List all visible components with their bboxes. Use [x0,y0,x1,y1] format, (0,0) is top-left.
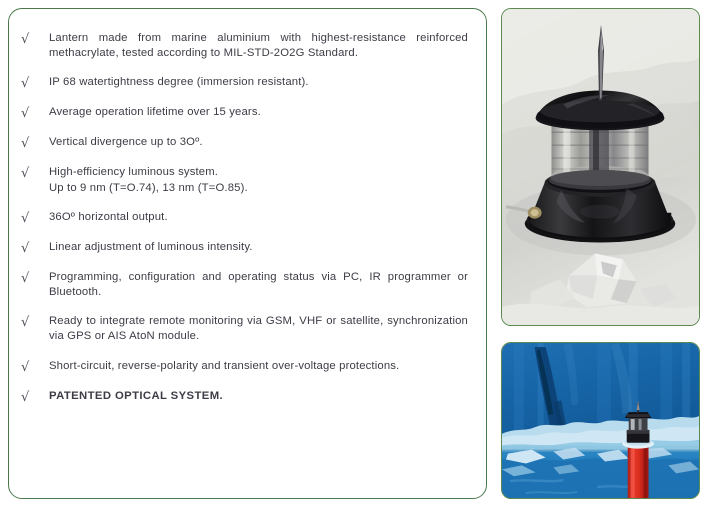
check-icon: √ [21,75,49,91]
feature-text: High-efficiency luminous system. Up to 9… [49,165,468,195]
check-icon: √ [21,105,49,121]
list-item: √ Average operation lifetime over 15 yea… [21,105,468,121]
list-item: √ Vertical divergence up to 3Oº. [21,135,468,151]
photo-lantern-in-ice [501,8,700,326]
check-icon: √ [21,135,49,151]
feature-text: Average operation lifetime over 15 years… [49,105,468,120]
feature-text: Linear adjustment of luminous intensity. [49,240,468,255]
check-icon: √ [21,31,49,47]
feature-text: Short-circuit, reverse-polarity and tran… [49,359,468,374]
list-item: √ Ready to integrate remote monitoring v… [21,314,468,344]
product-features-panel: √ Lantern made from marine aluminium wit… [8,8,487,499]
check-icon: √ [21,359,49,375]
list-item: √ Linear adjustment of luminous intensit… [21,240,468,256]
list-item: √ Programming, configuration and operati… [21,270,468,300]
lantern-in-ice-illustration [502,9,699,325]
check-icon: √ [21,270,49,286]
feature-text: PATENTED OPTICAL SYSTEM. [49,389,468,404]
feature-text: 36Oº horizontal output. [49,210,468,225]
feature-text: IP 68 watertightness degree (immersion r… [49,75,468,90]
list-item: √ 36Oº horizontal output. [21,210,468,226]
list-item: √ Lantern made from marine aluminium wit… [21,31,468,61]
buoy-glacier-illustration [502,343,699,498]
list-item: √ Short-circuit, reverse-polarity and tr… [21,359,468,375]
list-item: √ PATENTED OPTICAL SYSTEM. [21,389,468,405]
feature-text-line-2: Up to 9 nm (T=O.74), 13 nm (T=O.85). [49,181,468,196]
feature-text: Ready to integrate remote monitoring via… [49,314,468,344]
list-item: √ IP 68 watertightness degree (immersion… [21,75,468,91]
feature-text: Lantern made from marine aluminium with … [49,31,468,61]
feature-text: Programming, configuration and operating… [49,270,468,300]
check-icon: √ [21,165,49,181]
feature-text: Vertical divergence up to 3Oº. [49,135,468,150]
feature-text-line-1: High-efficiency luminous system. [49,166,218,178]
list-item: √ High-efficiency luminous system. Up to… [21,165,468,195]
photo-buoy-against-glacier [501,342,700,499]
check-icon: √ [21,314,49,330]
features-list: √ Lantern made from marine aluminium wit… [21,31,468,405]
check-icon: √ [21,389,49,405]
check-icon: √ [21,210,49,226]
check-icon: √ [21,240,49,256]
